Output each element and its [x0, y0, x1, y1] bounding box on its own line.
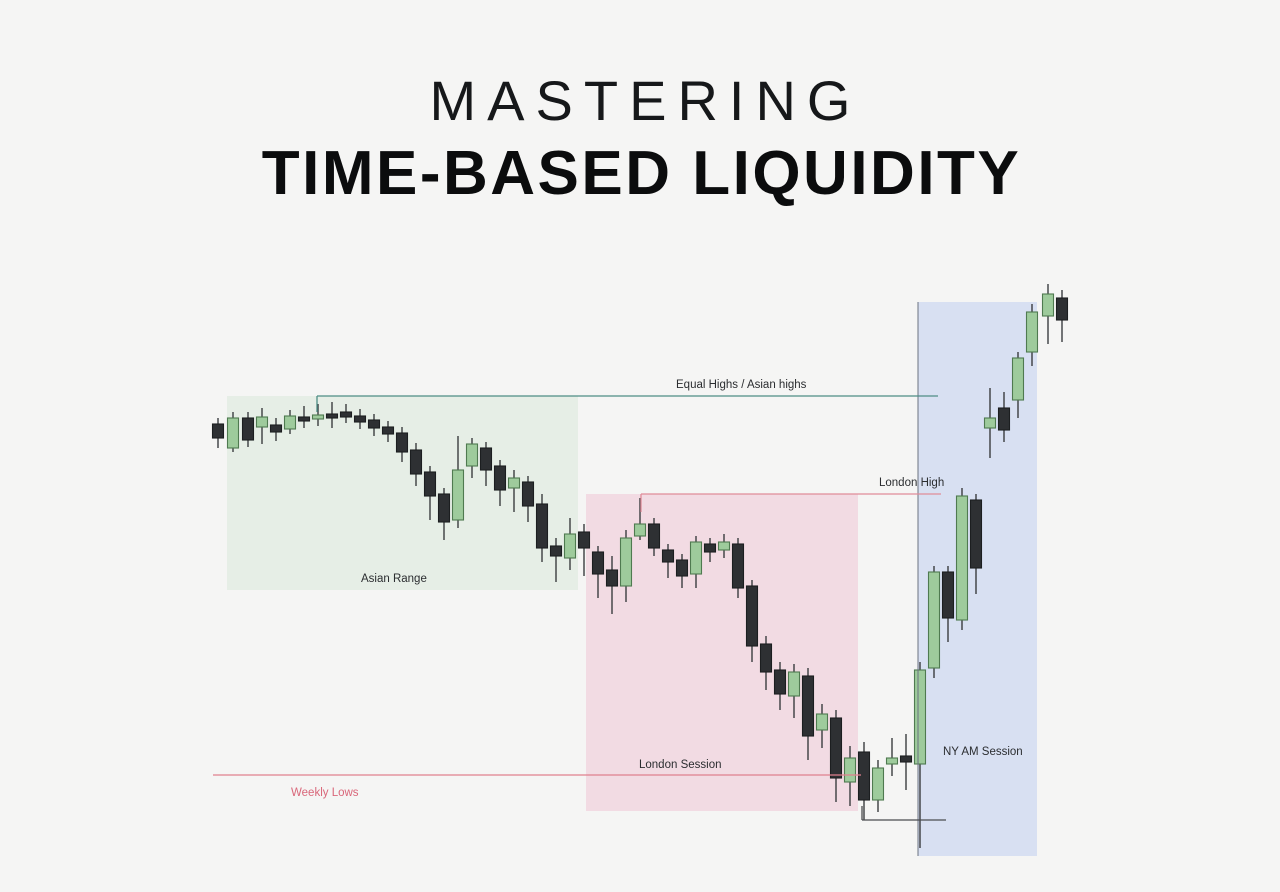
- candle-body-bullish: [887, 758, 898, 764]
- poster-canvas: MASTERING TIME-BASED LIQUIDITY Asian Ran…: [0, 0, 1280, 892]
- candle: [1057, 290, 1068, 342]
- candle-body-bearish: [537, 504, 548, 548]
- candle-body-bullish: [621, 538, 632, 586]
- candle-body-bearish: [943, 572, 954, 618]
- candle-body-bearish: [999, 408, 1010, 430]
- candle-body-bullish: [915, 670, 926, 764]
- zone-label-london-session: London Session: [639, 759, 721, 771]
- candle-body-bullish: [509, 478, 520, 488]
- candle-body-bullish: [789, 672, 800, 696]
- candle: [1043, 284, 1054, 344]
- candle-body-bullish: [691, 542, 702, 574]
- chart-svg: Asian RangeLondon SessionNY AM SessionEq…: [0, 0, 1280, 892]
- candle: [859, 742, 870, 820]
- candle-body-bullish: [1013, 358, 1024, 400]
- candle-body-bearish: [369, 420, 380, 428]
- candle-body-bullish: [719, 542, 730, 550]
- candle-body-bearish: [761, 644, 772, 672]
- level-label-london-high: London High: [879, 477, 944, 489]
- candle-body-bearish: [607, 570, 618, 586]
- level-label-equal-highs: Equal Highs / Asian highs: [676, 379, 807, 391]
- candle-body-bearish: [243, 418, 254, 440]
- candle: [957, 488, 968, 630]
- candle-body-bearish: [579, 532, 590, 548]
- candle-body-bullish: [285, 416, 296, 429]
- candle-body-bullish: [467, 444, 478, 466]
- candle-body-bearish: [649, 524, 660, 548]
- candle-body-bearish: [439, 494, 450, 522]
- candle: [929, 566, 940, 678]
- candle-body-bullish: [817, 714, 828, 730]
- candle-body-bullish: [957, 496, 968, 620]
- candle-body-bullish: [313, 415, 324, 419]
- candle-body-bearish: [299, 417, 310, 421]
- candle-body-bearish: [859, 752, 870, 800]
- candle-body-bearish: [705, 544, 716, 552]
- zone-label-asian-range: Asian Range: [361, 573, 427, 585]
- candle: [887, 738, 898, 776]
- candle-body-bullish: [228, 418, 239, 448]
- candle-body-bearish: [831, 718, 842, 778]
- candle-body-bearish: [411, 450, 422, 474]
- candle-body-bearish: [971, 500, 982, 568]
- candle: [873, 760, 884, 812]
- candle-body-bullish: [929, 572, 940, 668]
- candle-body-bearish: [733, 544, 744, 588]
- candle-body-bullish: [873, 768, 884, 800]
- candle-body-bearish: [551, 546, 562, 556]
- candle: [901, 734, 912, 790]
- candle-body-bearish: [383, 427, 394, 434]
- candle-body-bearish: [901, 756, 912, 762]
- candle-body-bearish: [663, 550, 674, 562]
- candle-body-bearish: [355, 416, 366, 422]
- candle-body-bearish: [481, 448, 492, 470]
- candle-body-bearish: [775, 670, 786, 694]
- candle-body-bullish: [635, 524, 646, 536]
- candle-body-bearish: [341, 412, 352, 417]
- candle-body-bullish: [257, 417, 268, 427]
- level-label-weekly-lows: Weekly Lows: [291, 787, 359, 799]
- candle-body-bearish: [593, 552, 604, 574]
- candle-body-bearish: [397, 433, 408, 452]
- candle-body-bearish: [803, 676, 814, 736]
- candle-body-bullish: [1027, 312, 1038, 352]
- candle-body-bearish: [495, 466, 506, 490]
- candle-body-bullish: [565, 534, 576, 558]
- candle-body-bearish: [523, 482, 534, 506]
- candle: [228, 412, 239, 452]
- candle-body-bullish: [1043, 294, 1054, 316]
- candle-body-bearish: [677, 560, 688, 576]
- candle-body-bearish: [425, 472, 436, 496]
- candle-body-bearish: [327, 414, 338, 418]
- candle-body-bullish: [985, 418, 996, 428]
- candle: [213, 418, 224, 448]
- candle-body-bullish: [845, 758, 856, 782]
- candle-body-bullish: [453, 470, 464, 520]
- candle-body-bearish: [1057, 298, 1068, 320]
- candle-body-bearish: [213, 424, 224, 438]
- zone-label-ny-am-session: NY AM Session: [943, 746, 1023, 758]
- candlestick-chart: Asian RangeLondon SessionNY AM SessionEq…: [0, 0, 1280, 892]
- candle-body-bearish: [271, 425, 282, 432]
- candle-body-bearish: [747, 586, 758, 646]
